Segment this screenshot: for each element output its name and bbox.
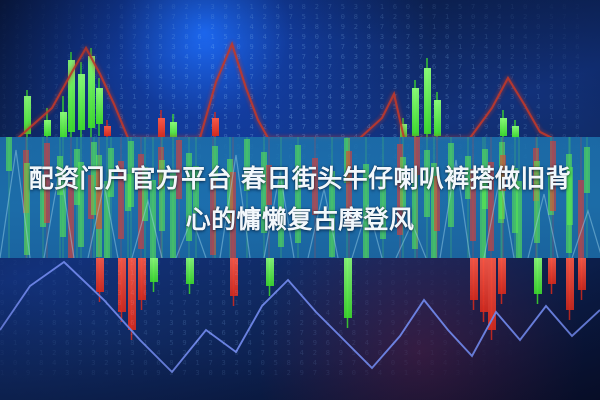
- banner-image: 4 8 1 0 3 7 9 2 5 6 1 4 8 0 2 7 3 9 5 1 …: [0, 0, 600, 400]
- headline-line-1: 配资门户官方平台 春日街头牛仔喇叭裤搭做旧背: [6, 158, 594, 199]
- headline-text: 配资门户官方平台 春日街头牛仔喇叭裤搭做旧背 心的慵懒复古摩登风: [0, 158, 600, 240]
- headline-line-2: 心的慵懒复古摩登风: [6, 199, 594, 240]
